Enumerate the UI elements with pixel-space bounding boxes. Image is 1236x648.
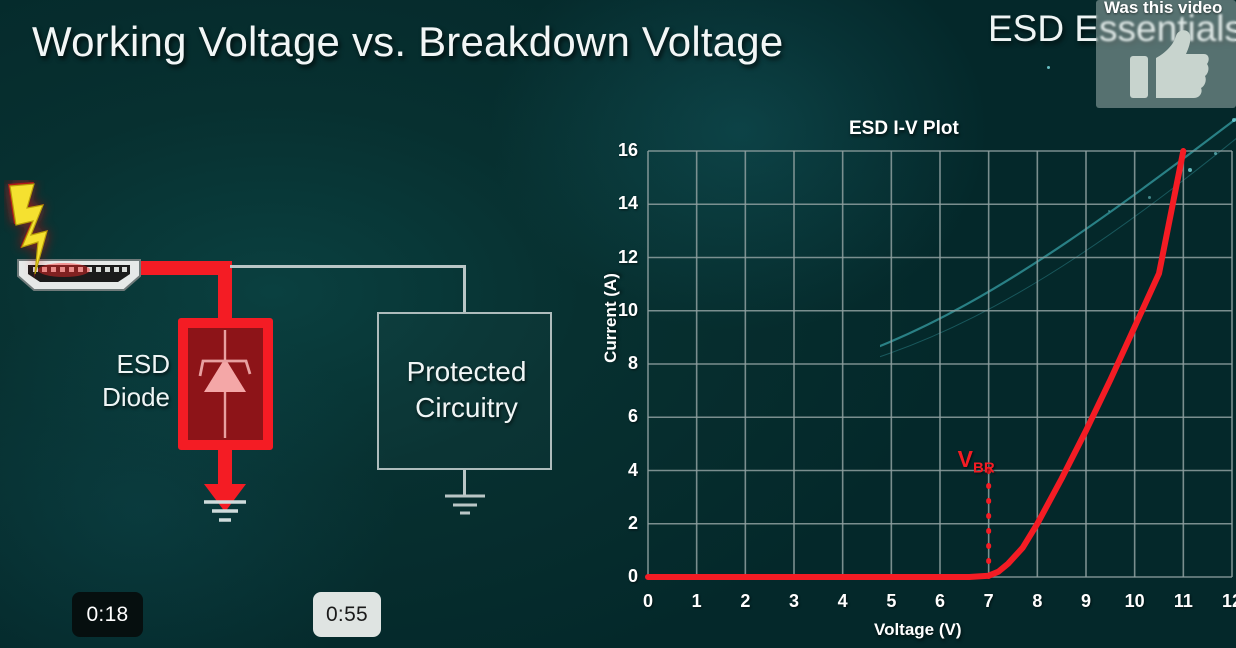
chart-xtick-label: 12 <box>1212 591 1236 612</box>
page-title: Working Voltage vs. Breakdown Voltage <box>32 18 783 66</box>
chart-ytick-label: 4 <box>604 460 638 481</box>
protected-circuitry-block: Protected Circuitry <box>377 312 552 470</box>
chart-ytick-label: 16 <box>604 140 638 161</box>
timestamp-badge-current[interactable]: 0:18 <box>72 592 143 637</box>
chart-xtick-label: 9 <box>1066 591 1106 612</box>
protected-circuitry-label-line2: Circuitry <box>379 390 554 426</box>
timestamp-badge-marker-label: 0:55 <box>326 603 368 627</box>
protected-circuitry-label-line1: Protected <box>379 354 554 390</box>
timestamp-badge-current-label: 0:18 <box>86 603 128 627</box>
vbr-symbol: V <box>958 446 973 472</box>
survey-overlay[interactable]: Was this video <box>1096 0 1236 108</box>
chart-ytick-label: 14 <box>604 193 638 214</box>
chart-plot-area <box>584 112 1236 612</box>
esd-current-path-vertical <box>218 261 232 323</box>
protected-circuitry-label: Protected Circuitry <box>379 354 554 426</box>
chart-ytick-label: 12 <box>604 247 638 268</box>
sparkle <box>1047 66 1050 69</box>
protected-ground-wire <box>463 470 466 495</box>
chart-xtick-label: 1 <box>677 591 717 612</box>
chart-xtick-label: 10 <box>1115 591 1155 612</box>
chart-ytick-label: 8 <box>604 353 638 374</box>
chart-ytick-label: 10 <box>604 300 638 321</box>
thumbs-up-icon[interactable] <box>1130 28 1210 102</box>
chart-xtick-label: 0 <box>628 591 668 612</box>
chart-xtick-label: 3 <box>774 591 814 612</box>
chart-xtick-label: 8 <box>1017 591 1057 612</box>
chart-xtick-label: 7 <box>969 591 1009 612</box>
chart-xtick-label: 5 <box>871 591 911 612</box>
esd-diode-label-line2: Diode <box>70 381 170 414</box>
survey-prompt: Was this video <box>1104 0 1236 18</box>
timestamp-badge-marker[interactable]: 0:55 <box>313 592 381 637</box>
vbr-subscript: BR <box>973 459 995 476</box>
chart-xtick-label: 4 <box>823 591 863 612</box>
esd-diode-label: ESD Diode <box>70 348 170 415</box>
chart-ytick-label: 0 <box>604 566 638 587</box>
signal-path-horizontal <box>230 265 464 268</box>
chart-ytick-label: 2 <box>604 513 638 534</box>
iv-plot: ESD I-V Plot Current (A) Voltage (V) VBR… <box>584 112 1236 648</box>
esd-diode-block <box>178 318 273 450</box>
ground-symbol-icon <box>442 493 488 517</box>
ground-symbol-icon <box>200 498 250 524</box>
chart-xtick-label: 6 <box>920 591 960 612</box>
chart-xtick-label: 11 <box>1163 591 1203 612</box>
chart-xlabel: Voltage (V) <box>874 620 962 640</box>
chart-xtick-label: 2 <box>725 591 765 612</box>
zener-diode-icon <box>188 328 263 440</box>
esd-diode-label-line1: ESD <box>70 348 170 381</box>
video-frame: Working Voltage vs. Breakdown Voltage ES… <box>0 0 1236 648</box>
signal-path-vertical <box>463 265 466 314</box>
chart-ytick-label: 6 <box>604 406 638 427</box>
lightning-bolt-icon <box>4 180 78 280</box>
breakdown-voltage-annotation: VBR <box>958 446 995 477</box>
circuit-diagram: ESD Diode Protected Circuitry <box>0 160 600 560</box>
